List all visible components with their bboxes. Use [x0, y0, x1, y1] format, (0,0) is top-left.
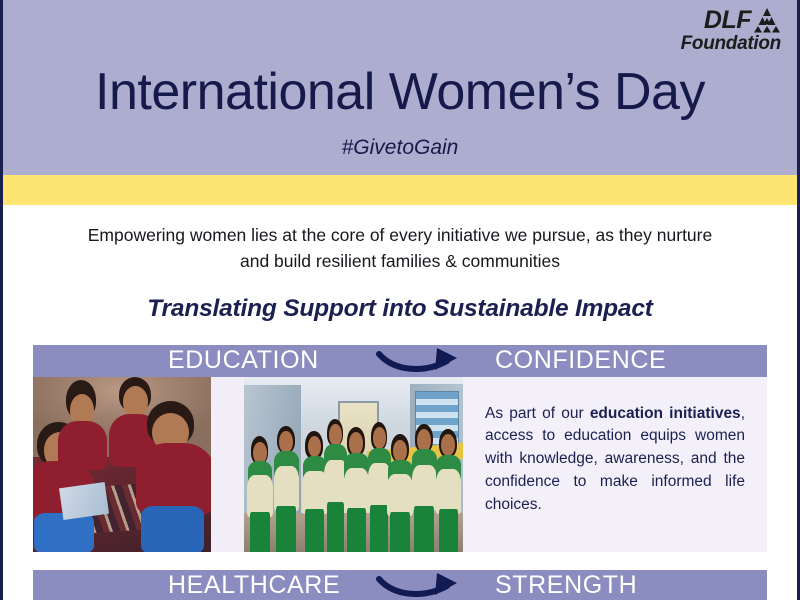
section-band-healthcare: HEALTHCARE STRENGTH	[33, 570, 767, 600]
dlf-foundation-logo: DLF Foundation	[681, 7, 781, 53]
poster-canvas: DLF Foundation	[0, 0, 800, 600]
band-label-left: EDUCATION	[168, 346, 319, 375]
girls-seated-activity-photo	[33, 377, 211, 552]
desc-text-before: As part of our	[485, 405, 590, 422]
section-education: EDUCATION CONFIDENCE	[33, 345, 767, 552]
schoolgirls-group-corridor-photo	[244, 377, 463, 552]
page-title: International Women’s Day	[3, 62, 797, 122]
section-description-text: As part of our education initiatives, ac…	[485, 403, 745, 517]
intro-paragraph: Empowering women lies at the core of eve…	[80, 205, 720, 275]
logo-wordmark: DLF	[704, 8, 751, 33]
curved-arrow-right-icon	[373, 346, 483, 376]
band-label-right: STRENGTH	[495, 571, 637, 600]
section-band-education: EDUCATION CONFIDENCE	[33, 345, 767, 377]
curved-arrow-right-icon	[373, 571, 483, 600]
poster-header: DLF Foundation	[3, 0, 797, 175]
section-spacer	[3, 552, 797, 570]
band-label-right: CONFIDENCE	[495, 346, 666, 375]
logo-subtext: Foundation	[681, 34, 781, 53]
desc-bold-phrase: education initiatives	[590, 405, 741, 422]
band-label-left: HEALTHCARE	[168, 571, 340, 600]
tagline: Translating Support into Sustainable Imp…	[3, 275, 797, 323]
section-healthcare: HEALTHCARE STRENGTH	[33, 570, 767, 600]
photo-gap	[211, 377, 244, 552]
campaign-hashtag: #GivetoGain	[3, 136, 797, 160]
triangle-pyramid-icon	[753, 7, 781, 33]
section-description-panel: As part of our education initiatives, ac…	[463, 377, 767, 552]
spacer	[3, 323, 797, 345]
accent-stripe	[3, 175, 797, 205]
section-media-row: As part of our education initiatives, ac…	[33, 377, 767, 552]
